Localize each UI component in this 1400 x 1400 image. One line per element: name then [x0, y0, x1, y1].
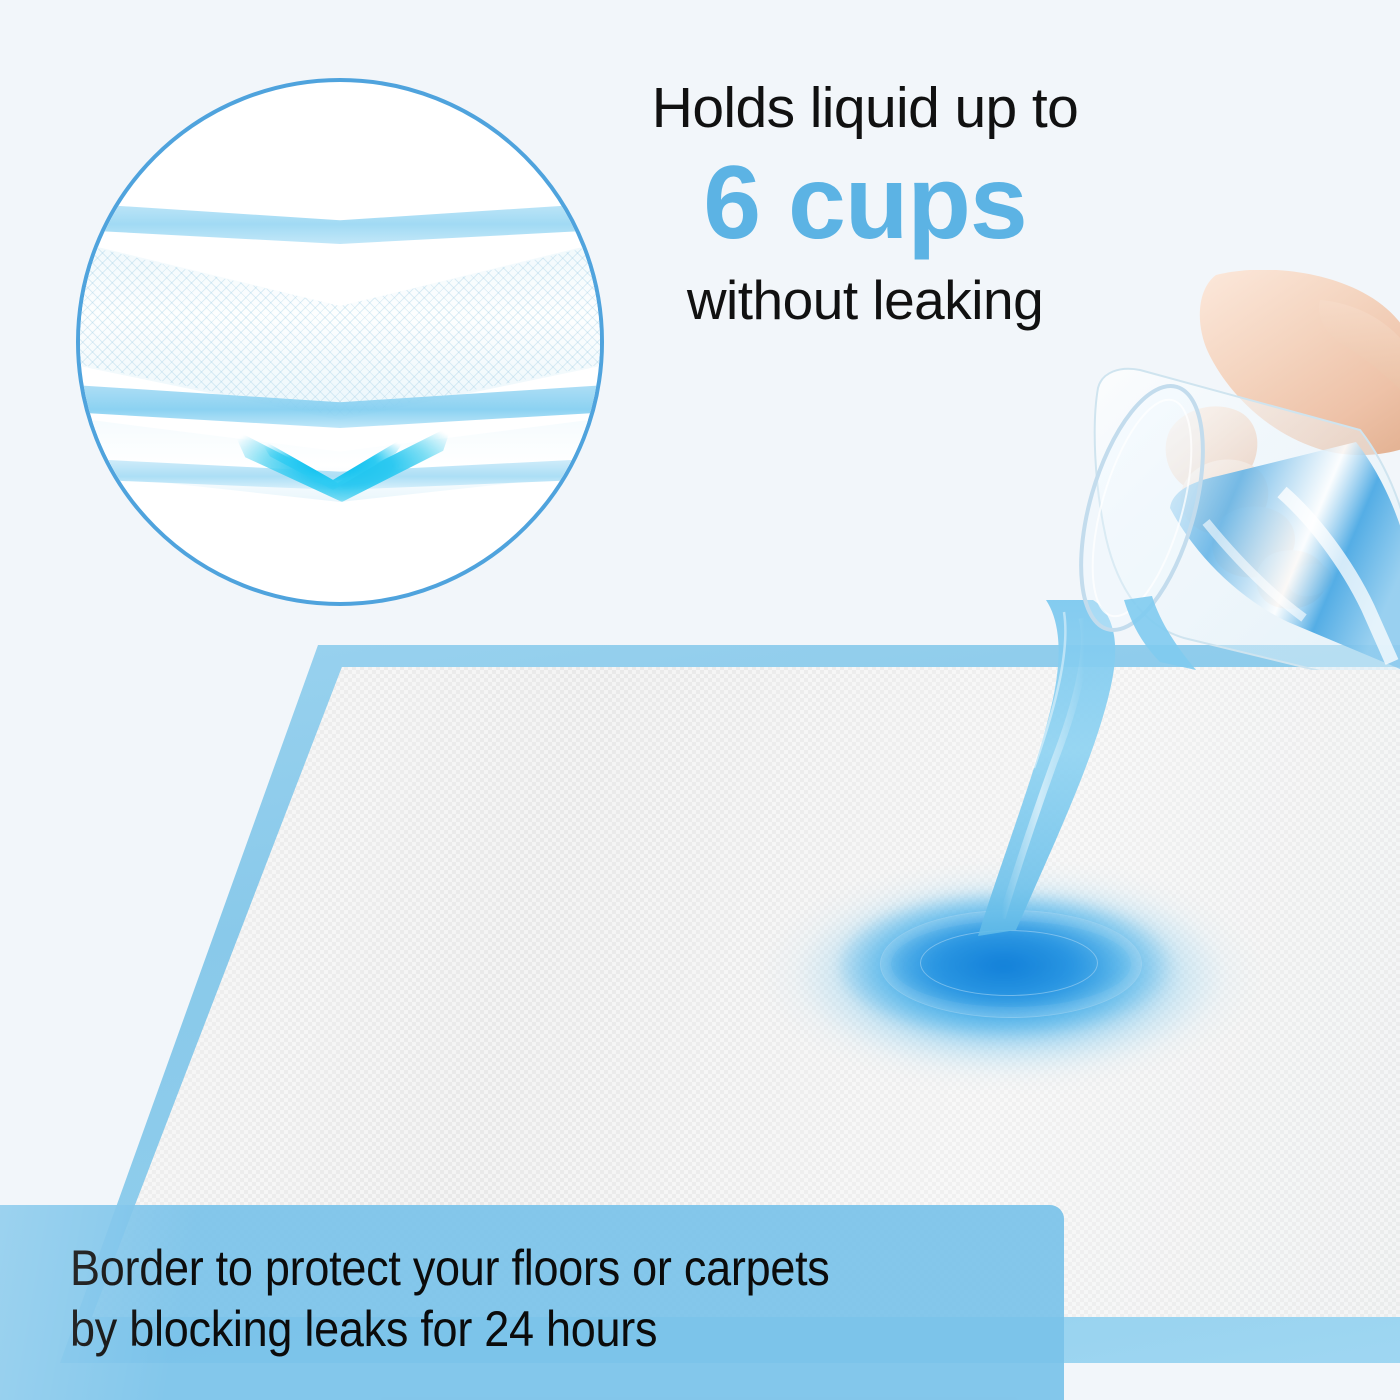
- caption-line-1: Border to protect your floors or carpets: [70, 1238, 965, 1299]
- inset-artwork: [80, 82, 600, 602]
- caption-line-2: by blocking leaks for 24 hours: [70, 1299, 965, 1360]
- hand-pouring-glass: [1020, 270, 1400, 670]
- headline-line-3: without leaking: [600, 271, 1130, 329]
- liquid-ripple-inner: [920, 930, 1098, 996]
- product-feature-infographic: Holds liquid up to 6 cups without leakin…: [0, 0, 1400, 1400]
- inset-mesh-texture: [76, 232, 604, 417]
- pad-cross-section-inset: [76, 78, 604, 606]
- bottom-caption-banner: Border to protect your floors or carpets…: [0, 1205, 1064, 1400]
- headline-line-1: Holds liquid up to: [600, 78, 1130, 138]
- headline-block: Holds liquid up to 6 cups without leakin…: [600, 78, 1130, 329]
- inset-top-blue-band: [76, 200, 604, 244]
- headline-capacity: 6 cups: [600, 142, 1130, 265]
